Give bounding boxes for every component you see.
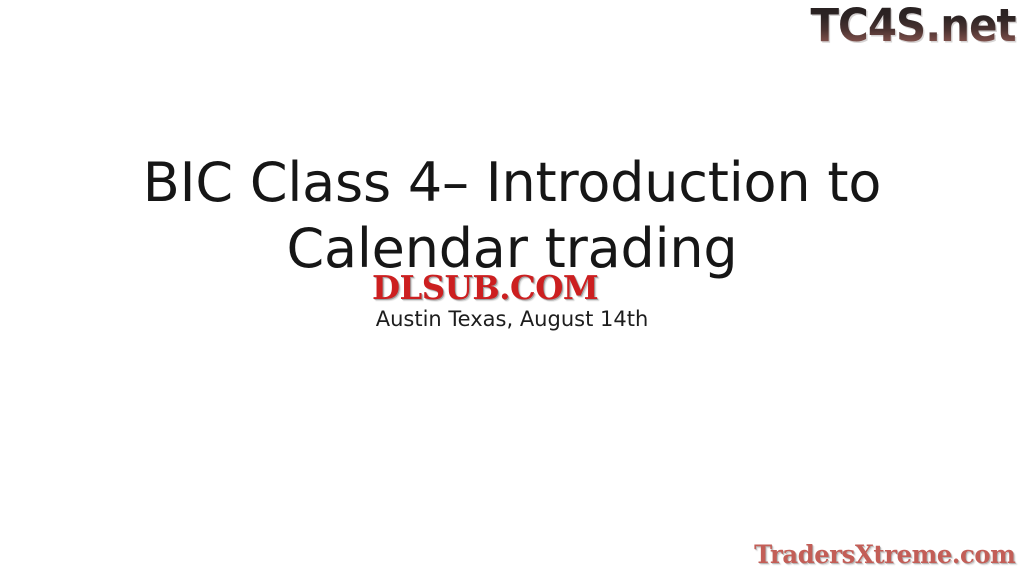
page-subtitle: Austin Texas, August 14th xyxy=(112,306,912,332)
tradersxtreme-watermark: TradersXtreme.com xyxy=(754,542,1015,568)
tc4s-logo-text: TC4S.net xyxy=(811,2,1016,50)
title-block: BIC Class 4– Introduction to Calendar tr… xyxy=(112,150,912,282)
presentation-slide: TC4S.net TC4S.net BIC Class 4– Introduct… xyxy=(0,0,1024,576)
dlsub-watermark: DLSUB.COM xyxy=(372,271,598,305)
subtitle-block: Austin Texas, August 14th xyxy=(112,306,912,332)
page-title: BIC Class 4– Introduction to Calendar tr… xyxy=(112,150,912,282)
